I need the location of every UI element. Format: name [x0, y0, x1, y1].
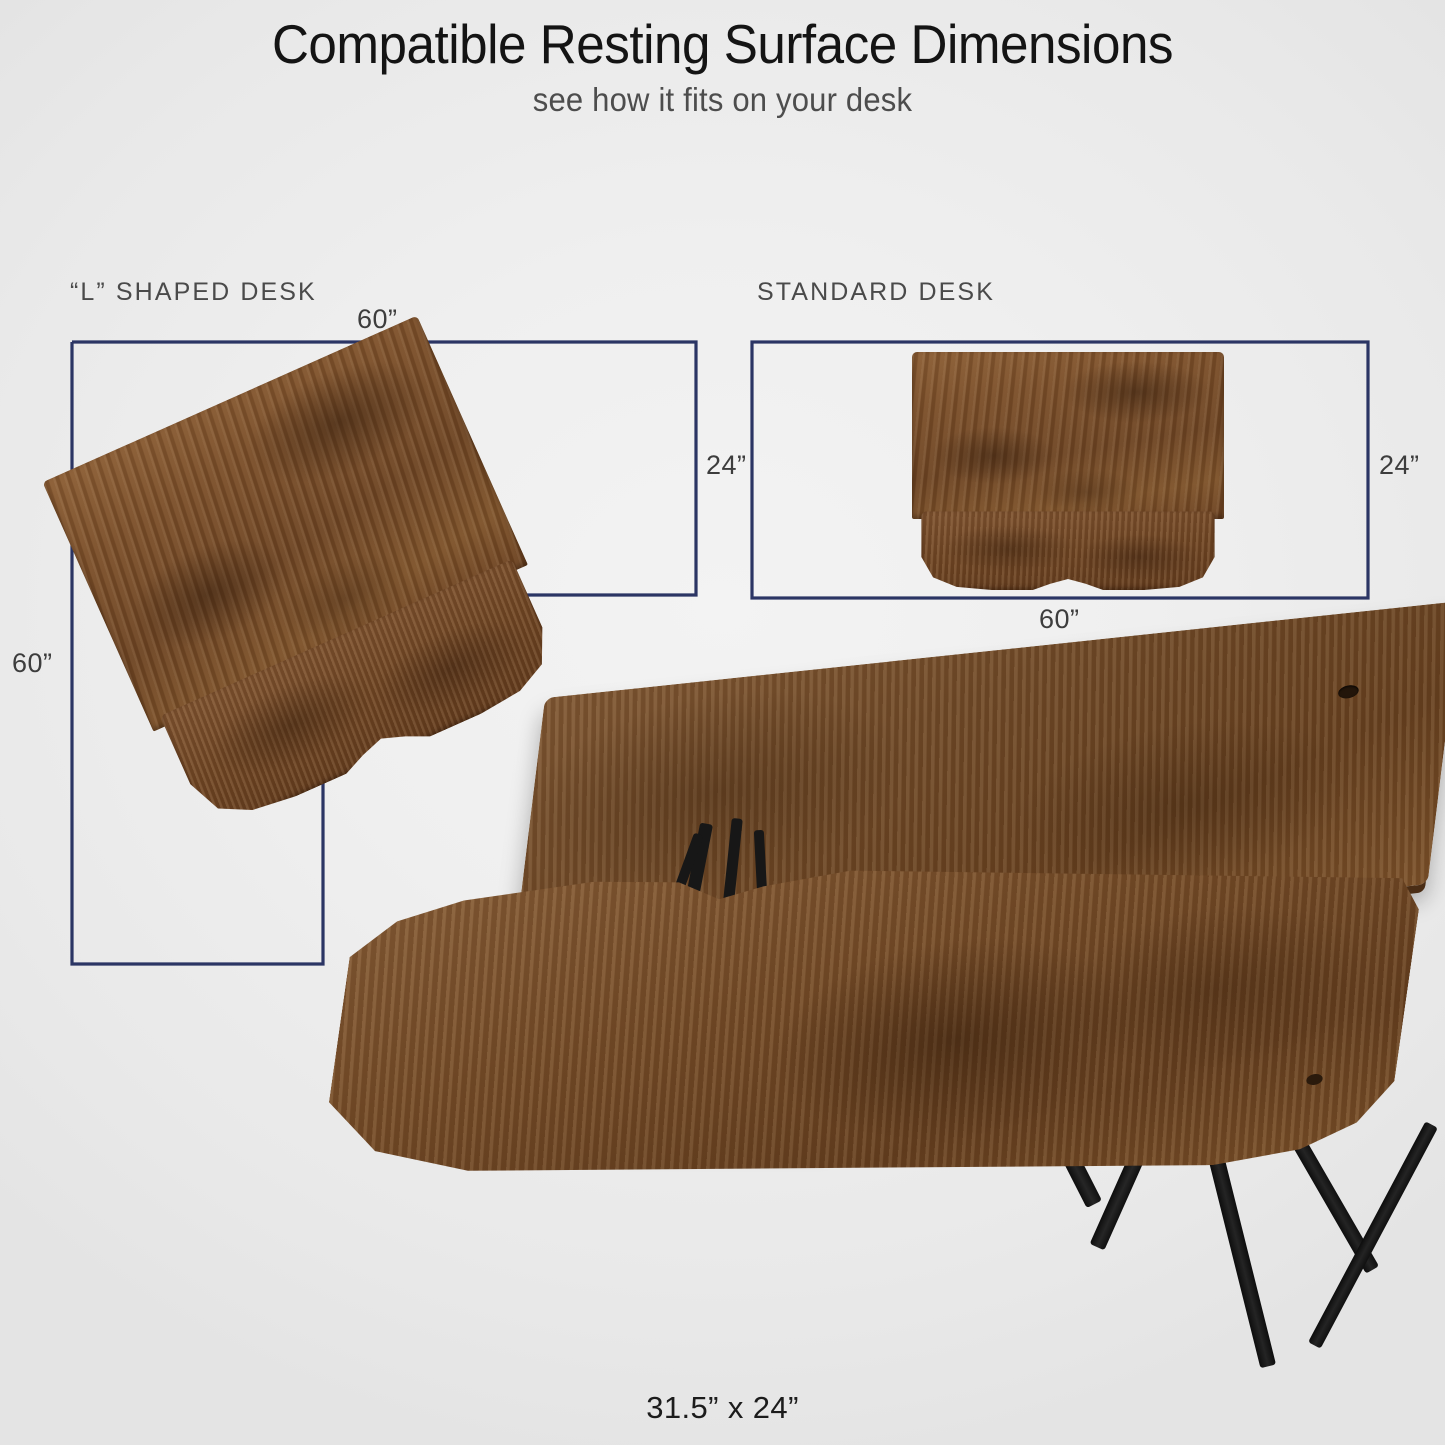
tray-hole-icon: [1306, 1073, 1324, 1085]
page-title: Compatible Resting Surface Dimensions: [51, 14, 1395, 76]
keyboard-tray: [311, 824, 1431, 1227]
l-shaped-desk-label: “L” SHAPED DESK: [70, 278, 317, 307]
cable-grommet-icon: [1337, 684, 1359, 699]
lift-arm: [1308, 1121, 1438, 1348]
riser-main-surface: [912, 352, 1224, 519]
product-photo: [330, 690, 1445, 1390]
standard-desk-label: STANDARD DESK: [757, 278, 995, 307]
standard-desk-width-dimension: 60”: [1039, 604, 1080, 635]
l-desk-height-dimension: 60”: [12, 648, 53, 679]
standard-desk-riser-topdown: [912, 352, 1224, 590]
infographic-canvas: Compatible Resting Surface Dimensions se…: [0, 0, 1445, 1445]
standard-desk-height-dimension-right: 24”: [1379, 450, 1420, 481]
header: Compatible Resting Surface Dimensions se…: [0, 14, 1445, 119]
standard-desk-height-dimension-left: 24”: [706, 450, 747, 481]
riser-keyboard-tray: [921, 511, 1214, 590]
page-subtitle: see how it fits on your desk: [43, 81, 1401, 119]
product-dimensions-caption: 31.5” x 24”: [0, 1390, 1445, 1426]
